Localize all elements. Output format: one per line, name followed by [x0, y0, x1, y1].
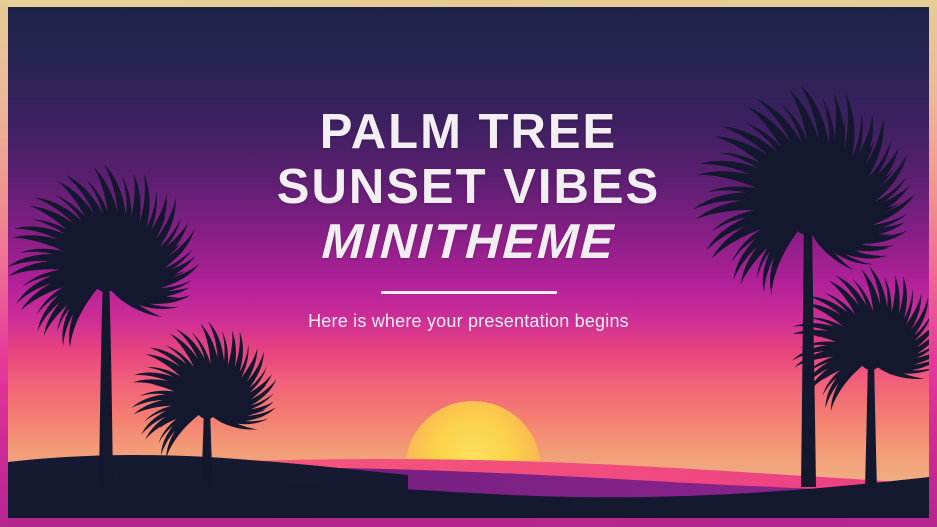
presentation-slide: PALM TREE SUNSET VIBES MINITHEME Here is… [0, 0, 937, 527]
slide-artwork [8, 7, 929, 518]
frame-border-bottom [0, 518, 937, 527]
frame-border-left [0, 0, 8, 527]
frame-border-right [929, 0, 937, 527]
frame-border-top [0, 0, 937, 7]
